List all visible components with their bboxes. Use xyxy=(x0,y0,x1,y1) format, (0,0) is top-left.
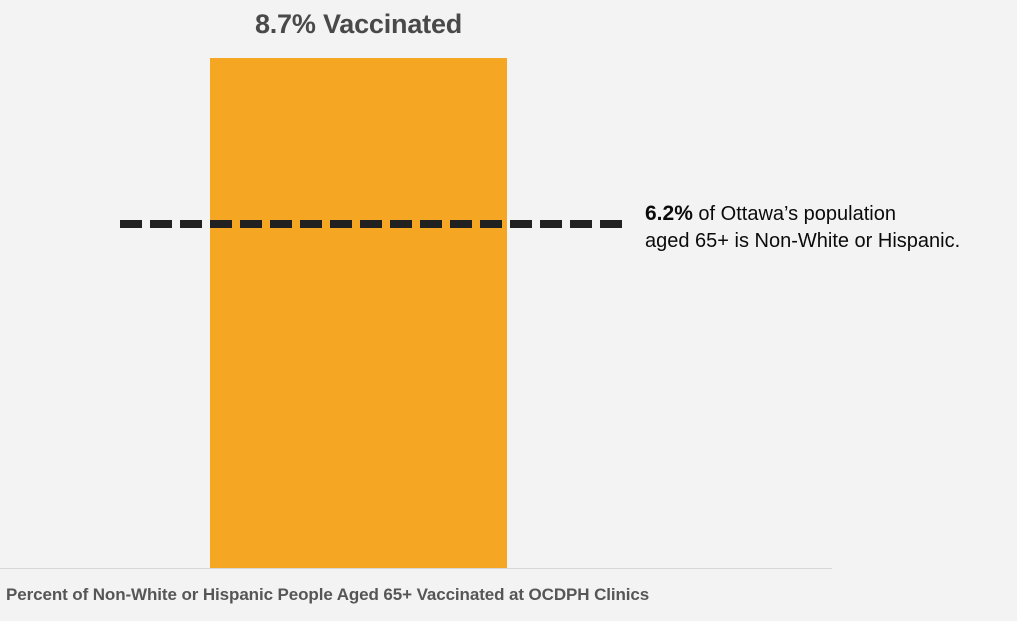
reference-text-line1: of Ottawa’s population xyxy=(693,203,896,225)
chart-caption: Percent of Non-White or Hispanic People … xyxy=(6,585,649,605)
reference-value: 6.2% xyxy=(645,202,693,225)
plot-area: 6.2% of Ottawa’s population aged 65+ is … xyxy=(0,0,1017,568)
reference-line-annotation: 6.2% of Ottawa’s population aged 65+ is … xyxy=(645,200,1017,255)
bar-vaccinated[interactable] xyxy=(210,58,507,568)
reference-text-line2: aged 65+ is Non-White or Hispanic. xyxy=(645,228,1017,255)
reference-line-dashed xyxy=(120,220,630,228)
chart-container: 8.7% Vaccinated 6.2% of Ottawa’s populat… xyxy=(0,0,1017,621)
annotation-line-1: 6.2% of Ottawa’s population xyxy=(645,200,1017,228)
axis-divider xyxy=(0,568,832,569)
